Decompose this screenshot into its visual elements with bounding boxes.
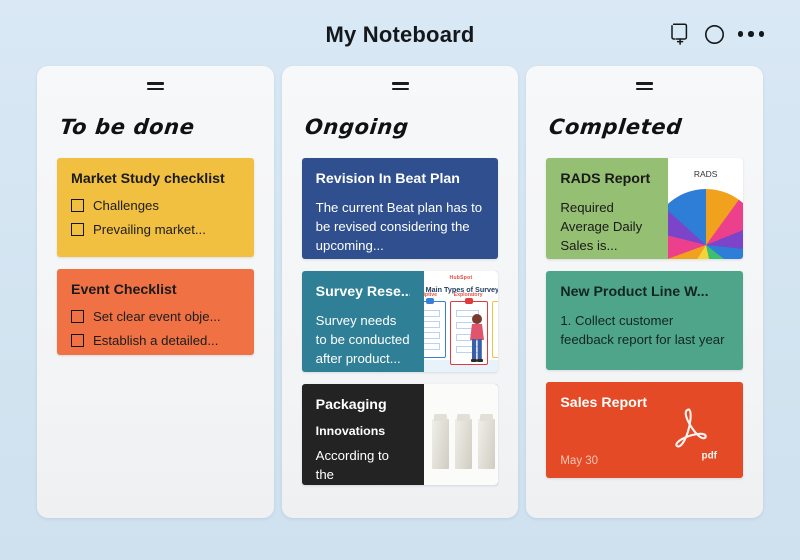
checkbox-icon[interactable] [71, 223, 84, 236]
checklist-item-label: Establish a detailed... [93, 333, 218, 348]
column-cards: Revision In Beat Plan The current Beat p… [282, 139, 519, 485]
card-title: New Product Line W... [560, 284, 729, 302]
checklist-item-label: Set clear event obje... [93, 309, 221, 324]
column-cards: Market Study checklist Challenges Prevai… [37, 139, 274, 355]
checklist-item[interactable]: Establish a detailed... [71, 333, 240, 348]
column-title: Completed [524, 97, 765, 139]
clipboard-icon [492, 301, 499, 358]
checkbox-icon[interactable] [71, 199, 84, 212]
column-drag-handle[interactable] [282, 66, 519, 97]
card-survey-research[interactable]: Survey Rese... Survey needs to be conduc… [302, 271, 499, 372]
card-title: Market Study checklist [71, 171, 240, 189]
checklist-item-label: Prevailing market... [93, 222, 206, 237]
checkbox-icon[interactable] [71, 334, 84, 347]
column-drag-handle[interactable] [526, 66, 763, 97]
package-box [455, 419, 472, 469]
package-box [432, 419, 449, 469]
column-to-be-done[interactable]: To be done Market Study checklist Challe… [37, 66, 274, 518]
checklist-item-label: Challenges [93, 198, 159, 213]
card-title: Event Checklist [71, 282, 240, 300]
person-illustration [468, 312, 486, 364]
card-description: Required Average Daily Sales is... [560, 198, 654, 255]
card-title: Survey Rese... [316, 284, 410, 302]
card-sales-report[interactable]: Sales Report May 30 pdf [546, 382, 743, 478]
column-ongoing[interactable]: Ongoing Revision In Beat Plan The curren… [282, 66, 519, 518]
card-title: Revision In Beat Plan [316, 171, 485, 189]
column-title: Ongoing [279, 97, 520, 139]
card-description: The current Beat plan has to be revised … [316, 198, 485, 255]
card-subtitle: Innovations [316, 424, 410, 438]
more-options-icon[interactable] [738, 31, 765, 37]
card-description: 1. Collect customer feedback report for … [560, 311, 729, 349]
packaging-photo [424, 384, 499, 485]
card-body: Market Study checklist Challenges Prevai… [57, 158, 254, 257]
card-packaging-innovations[interactable]: Packaging Innovations According to the [302, 384, 499, 485]
pie-chart: RADS 19%) Ap [668, 158, 743, 259]
checkbox-icon[interactable] [71, 310, 84, 323]
package-box [478, 419, 495, 469]
card-body: Event Checklist Set clear event obje... … [57, 269, 254, 355]
add-page-icon[interactable] [671, 23, 691, 45]
chart-title: RADS [668, 169, 743, 179]
checklist-item[interactable]: Challenges [71, 198, 240, 213]
card-description: According to the [316, 446, 410, 484]
card-rads-report[interactable]: RADS Report Required Average Daily Sales… [546, 158, 743, 259]
card-revision-in-beat-plan[interactable]: Revision In Beat Plan The current Beat p… [302, 158, 499, 259]
card-description: Survey needs to be conducted after produ… [316, 311, 410, 368]
column-title: To be done [35, 97, 276, 139]
card-body: New Product Line W... 1. Collect custome… [546, 271, 743, 370]
card-body: RADS Report Required Average Daily Sales… [546, 158, 668, 259]
pdf-label: pdf [701, 451, 717, 462]
hubspot-logo: HubSpot [450, 275, 473, 281]
checklist-item[interactable]: Prevailing market... [71, 222, 240, 237]
survey-illustration: HubSpot Main Types of Survey scriptive E… [424, 271, 499, 372]
card-body: Packaging Innovations According to the [302, 384, 424, 485]
app-header: My Noteboard [0, 0, 800, 62]
circle-icon[interactable] [704, 24, 725, 45]
clipboard-icon [424, 301, 446, 358]
pdf-icon: pdf [663, 402, 715, 459]
card-market-study-checklist[interactable]: Market Study checklist Challenges Prevai… [57, 158, 254, 257]
card-title: RADS Report [560, 171, 654, 189]
card-new-product-line[interactable]: New Product Line W... 1. Collect custome… [546, 271, 743, 370]
pie-chart-graphic [668, 189, 743, 259]
column-completed[interactable]: Completed RADS Report Required Average D… [526, 66, 763, 518]
card-title: Packaging [316, 397, 410, 415]
column-cards: RADS Report Required Average Daily Sales… [526, 139, 763, 478]
card-event-checklist[interactable]: Event Checklist Set clear event obje... … [57, 269, 254, 355]
checklist-item[interactable]: Set clear event obje... [71, 309, 240, 324]
column-drag-handle[interactable] [37, 66, 274, 97]
card-date: May 30 [560, 455, 598, 467]
card-body: Revision In Beat Plan The current Beat p… [302, 158, 499, 259]
board: To be done Market Study checklist Challe… [37, 66, 763, 518]
card-body: Survey Rese... Survey needs to be conduc… [302, 271, 424, 372]
header-actions [671, 23, 765, 45]
